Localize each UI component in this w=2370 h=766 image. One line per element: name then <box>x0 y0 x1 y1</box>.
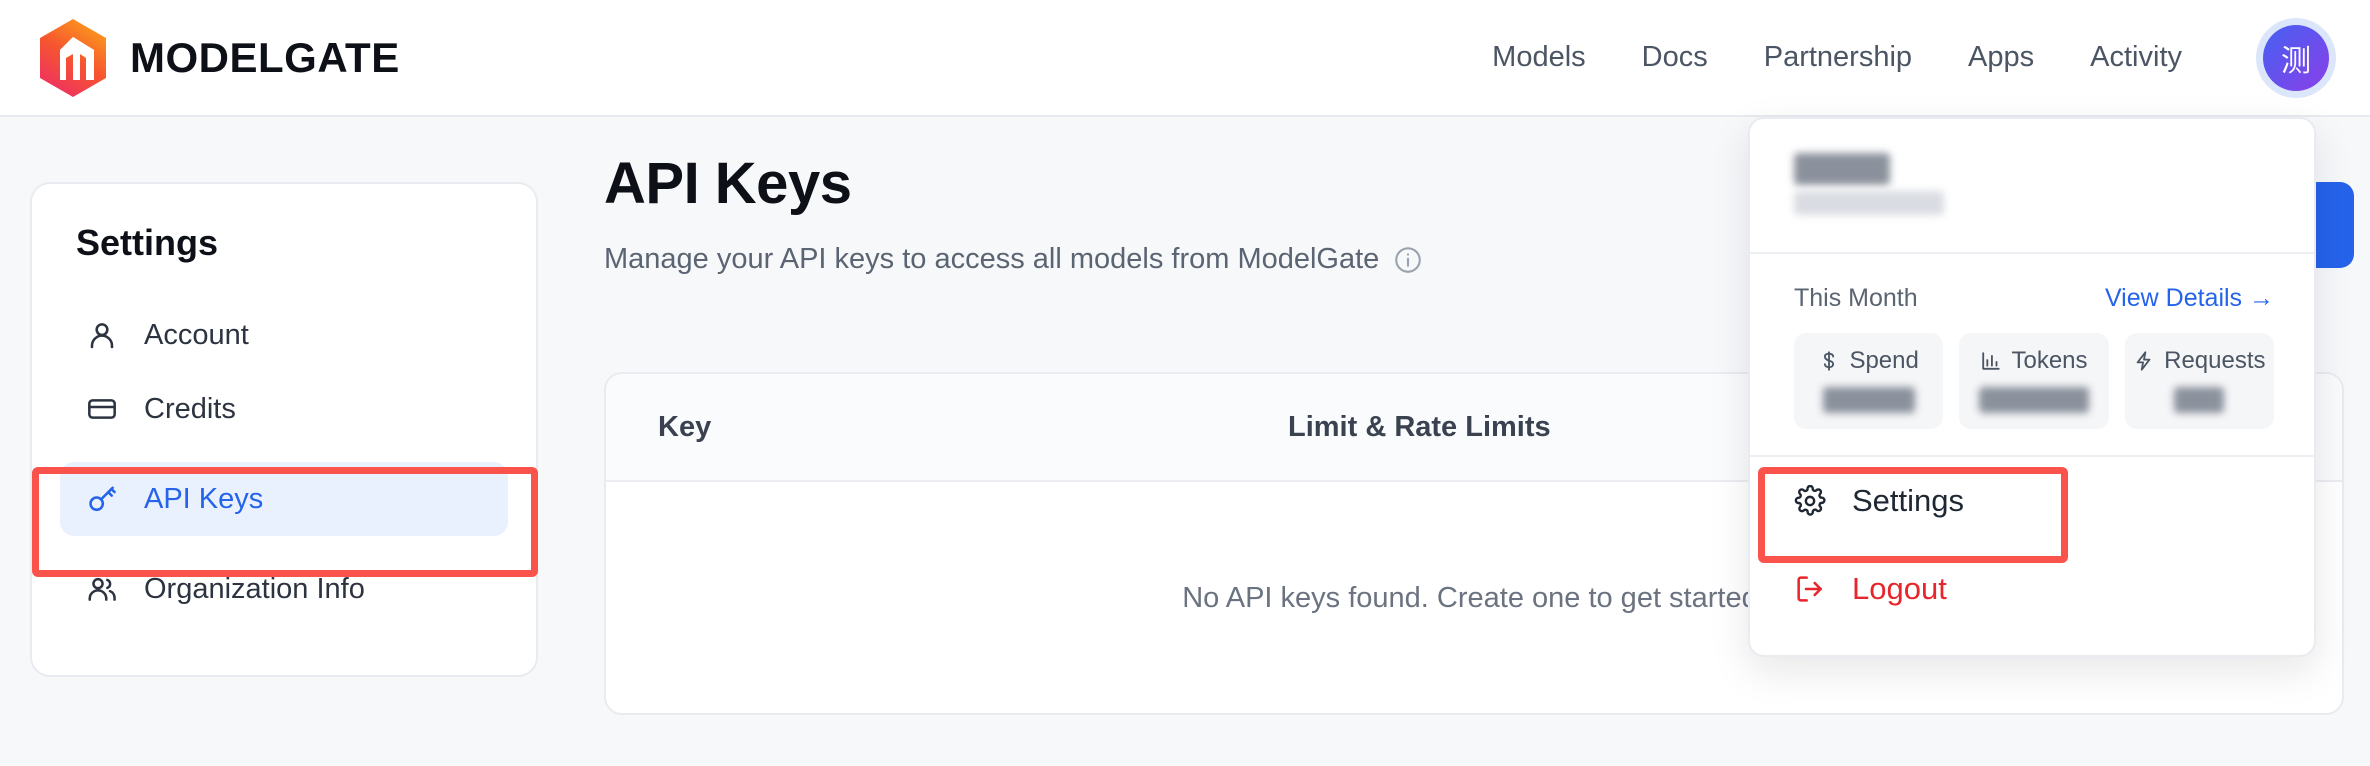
nav-link-docs[interactable]: Docs <box>1642 41 1708 74</box>
nav-link-activity[interactable]: Activity <box>2090 41 2182 74</box>
users-icon <box>86 573 118 605</box>
column-header-limit: Limit & Rate Limits <box>1288 411 1788 444</box>
sidebar-item-api-keys[interactable]: API Keys <box>60 462 508 536</box>
dropdown-logout-item[interactable]: Logout <box>1750 545 2314 633</box>
sidebar-list: Account Credits API Keys <box>32 298 536 626</box>
sidebar-item-label: Organization Info <box>144 573 365 606</box>
sidebar-title: Settings <box>76 222 536 264</box>
usage-stats-row: Spend Tokens <box>1794 333 2274 429</box>
lightning-icon <box>2133 350 2155 372</box>
sidebar-spacer <box>32 446 536 462</box>
dropdown-usage-section: This Month View Details → Spend <box>1750 254 2314 457</box>
column-header-key: Key <box>658 411 1288 444</box>
stat-header: Tokens <box>1959 347 2108 375</box>
stat-value-redacted <box>1823 387 1915 413</box>
credit-card-icon <box>86 393 118 425</box>
sidebar-item-account[interactable]: Account <box>60 298 508 372</box>
stat-label: Tokens <box>2011 347 2087 375</box>
stat-value-redacted <box>2174 387 2224 413</box>
dropdown-settings-label: Settings <box>1852 483 1964 519</box>
stat-value-redacted <box>1979 387 2089 413</box>
dropdown-logout-label: Logout <box>1852 571 1947 607</box>
sidebar-item-label: Credits <box>144 393 236 426</box>
user-email-redacted <box>1794 191 1944 215</box>
main-nav: Models Docs Partnership Apps Activity 测 <box>1492 18 2336 98</box>
stat-label: Spend <box>1849 347 1918 375</box>
settings-sidebar: Settings Account Credits <box>30 182 538 677</box>
nav-link-apps[interactable]: Apps <box>1968 41 2034 74</box>
avatar: 测 <box>2263 25 2329 91</box>
sidebar-item-credits[interactable]: Credits <box>60 372 508 446</box>
stat-card-spend[interactable]: Spend <box>1794 333 1943 429</box>
view-details-link[interactable]: View Details → <box>2105 284 2274 313</box>
sidebar-item-label: Account <box>144 319 249 352</box>
sidebar-item-label: API Keys <box>144 483 263 516</box>
info-circle-icon[interactable] <box>1393 245 1423 275</box>
top-header: MODELGATE Models Docs Partnership Apps A… <box>0 0 2370 117</box>
brand-logo[interactable]: MODELGATE <box>36 18 400 98</box>
page-subtitle: Manage your API keys to access all model… <box>604 243 1379 276</box>
sidebar-item-organization-info[interactable]: Organization Info <box>60 552 508 626</box>
user-icon <box>86 319 118 351</box>
stat-header: Requests <box>2125 347 2274 375</box>
nav-link-models[interactable]: Models <box>1492 41 1586 74</box>
usage-period-label: This Month <box>1794 284 1918 313</box>
nav-link-partnership[interactable]: Partnership <box>1764 41 1912 74</box>
gear-icon <box>1794 485 1826 517</box>
usage-header: This Month View Details → <box>1794 284 2274 313</box>
brand-name: MODELGATE <box>130 34 400 82</box>
logout-icon <box>1794 573 1826 605</box>
sidebar-spacer <box>32 536 536 552</box>
bar-chart-icon <box>1980 350 2002 372</box>
stat-card-requests[interactable]: Requests <box>2125 333 2274 429</box>
stat-header: Spend <box>1794 347 1943 375</box>
stat-card-tokens[interactable]: Tokens <box>1959 333 2108 429</box>
stat-label: Requests <box>2164 347 2265 375</box>
dollar-icon <box>1818 350 1840 372</box>
avatar-button[interactable]: 测 <box>2256 18 2336 98</box>
dropdown-user-info <box>1750 119 2314 254</box>
user-name-redacted <box>1794 153 1890 185</box>
modelgate-hexagon-logo-icon <box>36 18 110 98</box>
dropdown-settings-item[interactable]: Settings <box>1750 457 2314 545</box>
user-dropdown-menu: This Month View Details → Spend <box>1748 117 2316 657</box>
key-icon <box>86 483 118 515</box>
